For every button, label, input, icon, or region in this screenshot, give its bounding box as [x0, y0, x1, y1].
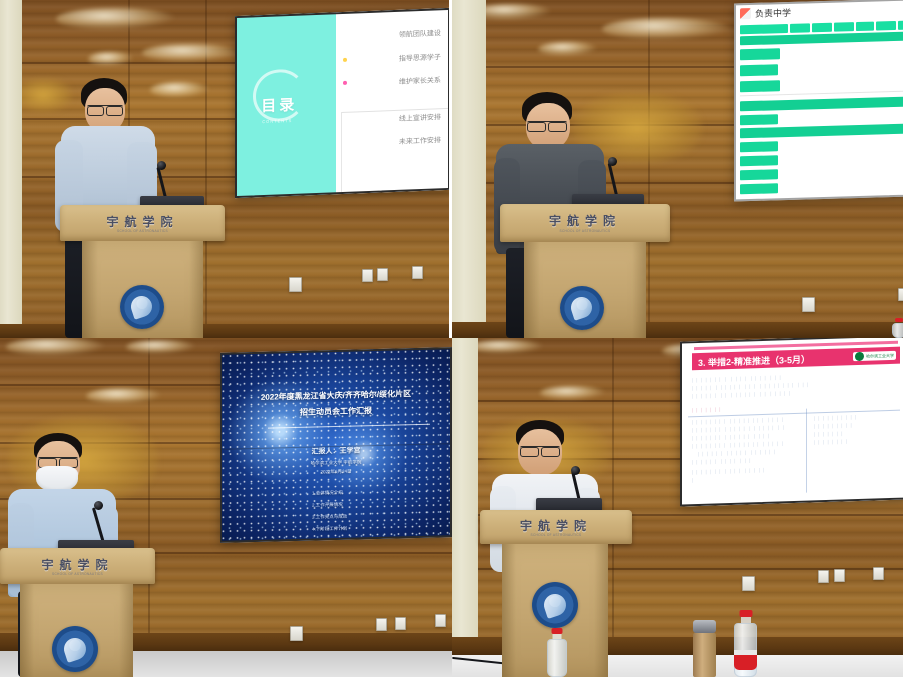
slide-body: ｜｜｜｜｜｜｜ ｜ ｜｜｜｜ ｜｜｜｜ ｜｜｜ ｜｜｜｜｜ ｜｜｜｜｜｜ ｜｜｜…	[680, 365, 903, 506]
glasses	[527, 121, 567, 131]
thermos-cup	[693, 620, 716, 677]
app-logo-icon	[740, 8, 751, 19]
bottle-body	[892, 323, 903, 338]
table-header-cell	[856, 22, 874, 32]
wall-reflection	[126, 340, 196, 354]
lectern-label: 宇航学院	[500, 212, 670, 229]
collage-panel-bottom-left: 2022年度黑龙江省大庆/齐齐哈尔/绥化片区 招生动员会工作汇报 汇报人：王学宫…	[0, 338, 452, 677]
university-logo-icon	[855, 352, 864, 361]
table-header-cell	[876, 21, 896, 31]
wall-reflection	[468, 340, 544, 354]
slide-header: 负责中学	[740, 6, 791, 20]
toc-item: 领航团队建设	[399, 28, 441, 40]
table-group-row	[740, 95, 903, 111]
university-logo-text: 哈尔滨工业大学	[866, 352, 894, 359]
bottle-label	[734, 650, 757, 670]
bottle-cap	[895, 318, 903, 322]
agenda-item: 2.工作开展情况	[312, 502, 343, 509]
power-outlet	[395, 617, 406, 630]
table-row	[740, 80, 780, 92]
table-row	[740, 169, 778, 180]
power-outlet	[818, 570, 829, 583]
lectern-top: 宇航学院 SCHOOL OF ASTRONAUTICS	[60, 205, 225, 241]
bottle-body	[547, 639, 567, 677]
wall-pillar	[452, 0, 486, 338]
toc-heading-sub: CONTENTS	[262, 118, 292, 124]
collage-panel-top-right: 负责中学	[452, 0, 903, 338]
toc-item: 指导思源学子	[399, 52, 441, 64]
wall-reflection	[88, 52, 134, 66]
table-row	[740, 155, 778, 166]
wall-reflection	[538, 42, 598, 56]
lectern: 宇航学院 SCHOOL OF ASTRONAUTICS	[0, 548, 155, 677]
microphone-head	[157, 161, 166, 170]
power-outlet	[290, 626, 303, 641]
photo-collage: 目录 CONTENTS 领航团队建设 指导思源学子 维护家长关系 线上宣讲安排 …	[0, 0, 903, 677]
power-outlet	[834, 569, 845, 582]
university-emblem	[120, 285, 164, 329]
projection-screen-table: 负责中学	[734, 0, 903, 201]
power-outlet	[898, 288, 903, 301]
power-outlet	[742, 576, 755, 591]
toc-heading: 目录	[261, 94, 297, 116]
glasses	[520, 446, 560, 456]
lectern-body	[82, 241, 203, 338]
university-emblem	[560, 286, 604, 330]
wall-reflection	[56, 8, 176, 30]
toc-bullet-icon	[343, 57, 347, 61]
table-header-cell	[812, 23, 832, 33]
table-header-cell	[834, 22, 854, 32]
slide-title: 3. 举措2-精准推进（3-5月）	[698, 352, 810, 369]
university-emblem	[532, 582, 578, 628]
toc-bullet-icon	[343, 81, 347, 85]
microphone-head	[608, 157, 617, 166]
table-row	[740, 141, 778, 152]
wall-reflection	[540, 386, 606, 400]
water-bottle	[892, 318, 903, 338]
power-outlet	[362, 269, 373, 282]
agenda-item: 4.下阶段工作计划	[312, 526, 347, 533]
agenda-item: 1.总体情况介绍	[312, 490, 343, 497]
lectern-top: 宇航学院 SCHOOL OF ASTRONAUTICS	[480, 510, 632, 544]
lectern-top: 宇航学院 SCHOOL OF ASTRONAUTICS	[500, 204, 670, 242]
glasses	[87, 105, 123, 115]
wall-reflection	[6, 338, 106, 356]
projection-screen-content: 3. 举措2-精准推进（3-5月） 哈尔滨工业大学 ｜｜｜｜｜｜｜ ｜ ｜｜｜｜…	[680, 338, 903, 507]
toc-accent-panel: 目录 CONTENTS	[235, 12, 336, 198]
toc-item: 维护家长关系	[399, 76, 441, 88]
lectern-body	[524, 242, 646, 338]
lectern-top: 宇航学院 SCHOOL OF ASTRONAUTICS	[0, 548, 155, 584]
lectern-body	[20, 584, 133, 677]
toc-divider-vertical	[341, 112, 342, 194]
power-outlet	[802, 297, 815, 312]
lectern-label: 宇航学院	[60, 213, 225, 230]
wall-reflection	[142, 44, 242, 62]
lectern-sublabel: SCHOOL OF ASTRONAUTICS	[0, 572, 155, 576]
microphone-head	[571, 466, 580, 475]
lectern-sublabel: SCHOOL OF ASTRONAUTICS	[60, 229, 225, 233]
power-outlet	[377, 268, 388, 281]
toc-item: 线上宣讲安排	[399, 112, 441, 124]
water-bottle	[734, 610, 757, 677]
collage-panel-top-left: 目录 CONTENTS 领航团队建设 指导思源学子 维护家长关系 线上宣讲安排 …	[0, 0, 449, 338]
wall-pillar	[452, 338, 478, 677]
lectern-sublabel: SCHOOL OF ASTRONAUTICS	[480, 533, 632, 537]
table-row	[740, 183, 778, 194]
data-table	[740, 19, 903, 198]
thermos-lid	[693, 620, 716, 633]
lectern: 宇航学院 SCHOOL OF ASTRONAUTICS	[60, 205, 225, 338]
wall-pillar	[0, 0, 22, 338]
water-bottle	[547, 628, 567, 677]
wall-reflection	[602, 18, 732, 40]
table-row	[740, 48, 780, 60]
agenda-item: 3.工作亮点与成效	[312, 514, 347, 521]
table-row	[740, 114, 778, 125]
table-row	[740, 64, 778, 76]
projection-screen-toc: 目录 CONTENTS 领航团队建设 指导思源学子 维护家长关系 线上宣讲安排 …	[235, 8, 449, 198]
lectern-label: 宇航学院	[0, 556, 155, 573]
projection-screen-title: 2022年度黑龙江省大庆/齐齐哈尔/绥化片区 招生动员会工作汇报 汇报人：王学宫…	[220, 347, 452, 543]
power-outlet	[873, 567, 884, 580]
toc-items-panel: 领航团队建设 指导思源学子 维护家长关系 线上宣讲安排 未来工作安排	[336, 8, 449, 194]
wall-reflection	[86, 388, 162, 404]
table-header-cell	[790, 23, 810, 33]
toc-item: 未来工作安排	[399, 136, 441, 148]
collage-panel-bottom-right: 3. 举措2-精准推进（3-5月） 哈尔滨工业大学 ｜｜｜｜｜｜｜ ｜ ｜｜｜｜…	[452, 338, 903, 677]
slide-heading: 负责中学	[755, 6, 791, 20]
power-outlet	[376, 618, 387, 631]
lectern: 宇航学院 SCHOOL OF ASTRONAUTICS	[500, 204, 670, 338]
table-group-row	[740, 122, 903, 138]
power-outlet	[412, 266, 423, 279]
thermos-body	[693, 633, 716, 677]
power-outlet	[435, 614, 446, 627]
lectern-sublabel: SCHOOL OF ASTRONAUTICS	[500, 229, 670, 233]
microphone-head	[94, 501, 103, 510]
table-header-cell	[740, 24, 788, 34]
power-outlet	[289, 277, 302, 292]
lectern-label: 宇航学院	[480, 517, 632, 534]
table-header-cell	[898, 19, 903, 30]
bottle-cap	[739, 610, 752, 617]
university-emblem	[52, 626, 98, 672]
